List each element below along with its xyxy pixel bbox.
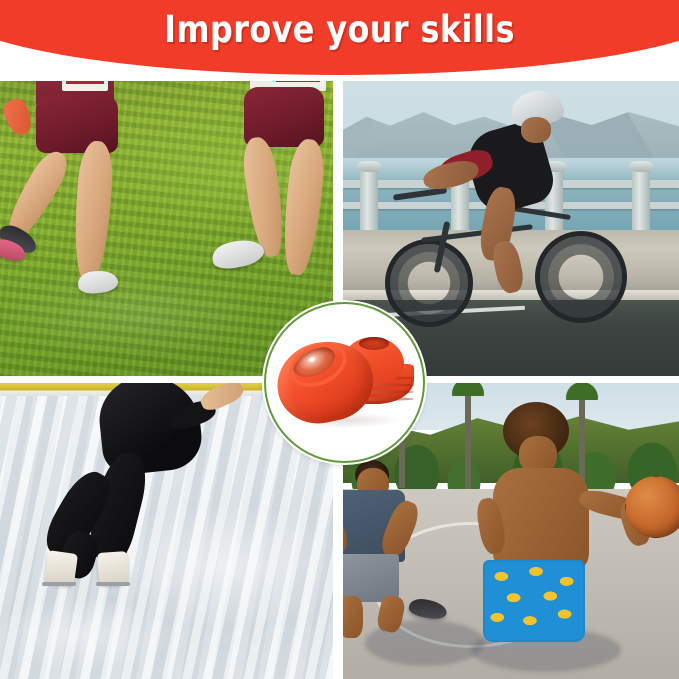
palm-tree: [579, 392, 585, 488]
product-collage: Improve your skills: [0, 0, 679, 679]
palm-tree: [465, 388, 471, 492]
cone-upright-opening: [359, 337, 389, 350]
page-title: Improve your skills: [48, 8, 632, 52]
product-highlight-circle: [264, 302, 425, 463]
header-banner: Improve your skills: [0, 0, 679, 80]
disc-cones-product-image: [266, 304, 423, 461]
